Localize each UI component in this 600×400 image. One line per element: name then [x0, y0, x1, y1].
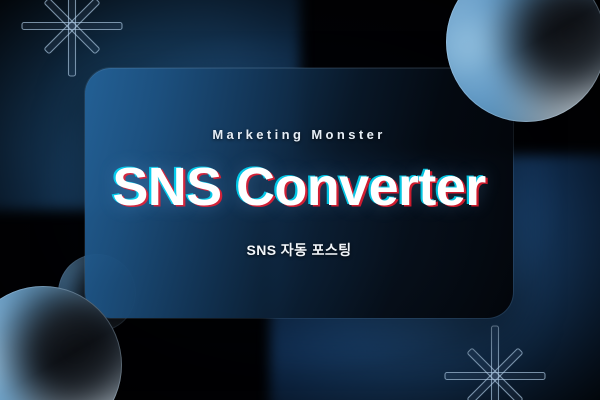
glass-sphere [0, 286, 122, 400]
poster-canvas: Marketing Monster SNS Converter SNS 자동 포… [0, 0, 600, 400]
page-title: SNS Converter [112, 160, 485, 214]
brand-eyebrow: Marketing Monster [212, 127, 385, 142]
title-wrapper: SNS Converter [112, 160, 485, 214]
page-subtitle: SNS 자동 포스팅 [247, 240, 352, 260]
glass-sphere [446, 0, 600, 122]
